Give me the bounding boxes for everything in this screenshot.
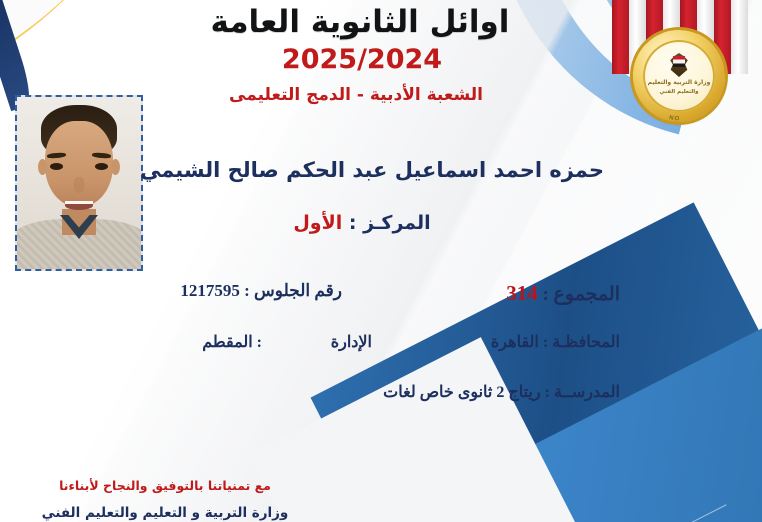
- rank-value: الأول: [293, 212, 342, 234]
- student-name: حمزه احمد اسماعيل عبد الحكم صالح الشيمي: [0, 158, 744, 182]
- ministry-footer: وزارة التربية و التعليم والتعليم الفني: [0, 505, 330, 521]
- rank-label: المركـز :: [349, 212, 431, 234]
- seat-label: رقم الجلوس :: [244, 281, 342, 300]
- governorate-label: المحافظـة :: [543, 334, 620, 351]
- governorate-value: القاهرة: [491, 334, 539, 351]
- governorate-group: المحافظـة : القاهرة: [491, 332, 620, 352]
- academic-year: 2025/2024: [0, 44, 724, 75]
- section-subtitle: الشعبة الأدبية - الدمج التعليمى: [0, 85, 712, 105]
- seat-value: 1217595: [180, 281, 240, 300]
- page-title: اوائل الثانوية العامة: [0, 4, 762, 40]
- school-group: المدرســة : ريتاج 2 ثانوى خاص لغات: [383, 382, 620, 402]
- seat-group: رقم الجلوس : 1217595: [180, 281, 342, 301]
- rank-row: المركـز : الأول: [0, 212, 724, 234]
- total-value: 314: [506, 281, 538, 305]
- administration-value: : المقطم: [202, 332, 262, 352]
- school-value: ريتاج 2 ثانوى خاص لغات: [383, 384, 540, 401]
- certificate-card: MINISTRY OF EDUCATION AND TECHNICAL EDUC…: [0, 0, 762, 522]
- administration-label: الإدارة: [331, 332, 372, 352]
- total-group: المجموع : 314: [506, 281, 620, 306]
- school-label: المدرســة :: [545, 384, 620, 401]
- certificate-content: اوائل الثانوية العامة 2025/2024 الشعبة ا…: [0, 0, 762, 522]
- page-title-text: اوائل الثانوية العامة: [211, 4, 510, 40]
- wish-message: مع تمنياتنا بالتوفيق والنجاح لأبناءنا: [0, 478, 330, 493]
- total-label: المجموع :: [542, 284, 620, 305]
